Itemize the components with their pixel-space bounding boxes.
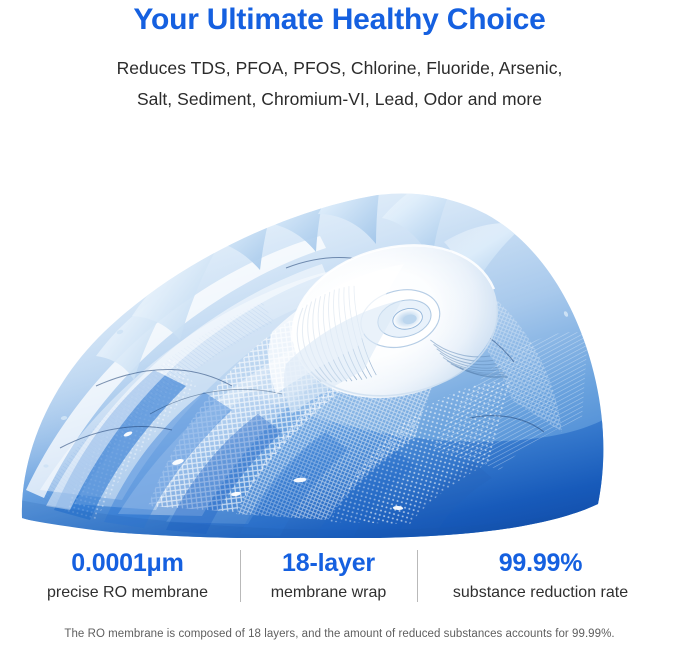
subtitle-line-1: Reduces TDS, PFOA, PFOS, Chlorine, Fluor… xyxy=(0,38,679,84)
stats-row: 0.0001μm precise RO membrane 18-layer me… xyxy=(0,548,679,610)
stat-label-1: membrane wrap xyxy=(271,578,387,605)
stat-value-0: 0.0001μm xyxy=(71,548,183,578)
stat-value-1: 18-layer xyxy=(282,548,375,578)
water-splash-ro-membrane-image xyxy=(0,118,679,538)
subtitle-line-2: Salt, Sediment, Chromium-VI, Lead, Odor … xyxy=(0,84,679,115)
hero-image-container xyxy=(0,118,679,538)
product-feature-page: Your Ultimate Healthy Choice Reduces TDS… xyxy=(0,0,679,650)
page-title: Your Ultimate Healthy Choice xyxy=(0,0,679,38)
header: Your Ultimate Healthy Choice Reduces TDS… xyxy=(0,0,679,115)
footnote: The RO membrane is composed of 18 layers… xyxy=(0,626,679,642)
stat-value-2: 99.99% xyxy=(499,548,583,578)
stat-precise-ro-membrane: 0.0001μm precise RO membrane xyxy=(16,548,240,605)
stat-label-2: substance reduction rate xyxy=(453,578,628,605)
stat-label-0: precise RO membrane xyxy=(47,578,208,605)
stat-substance-reduction-rate: 99.99% substance reduction rate xyxy=(418,548,664,605)
stat-membrane-wrap: 18-layer membrane wrap xyxy=(241,548,417,605)
